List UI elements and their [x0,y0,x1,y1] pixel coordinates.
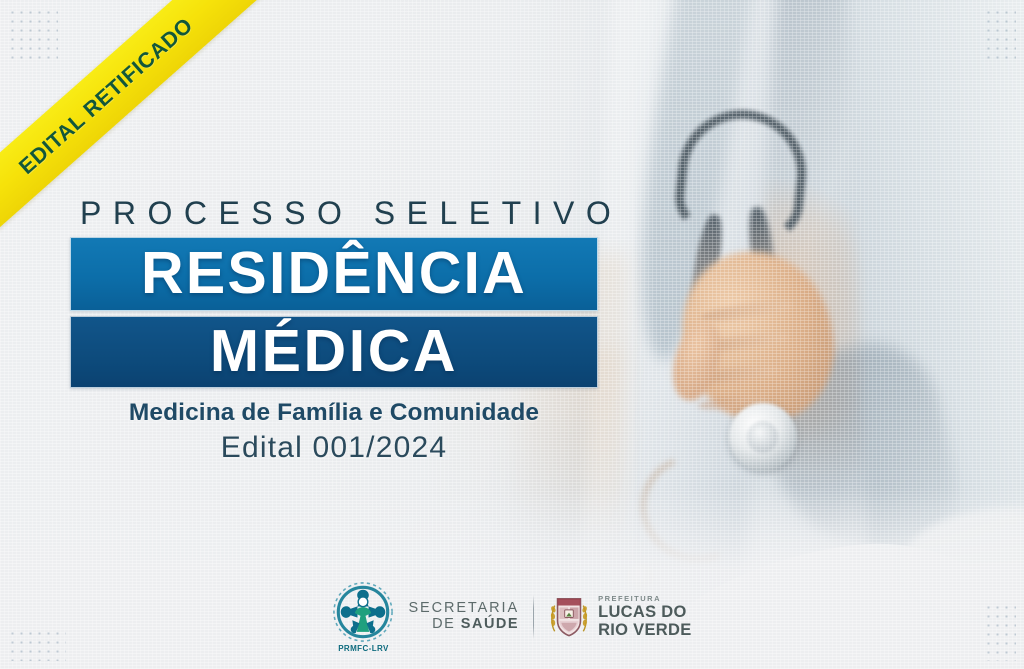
coat-of-arms-crest-icon [548,593,590,641]
secretaria-line-2: DE SAÚDE [432,616,519,632]
prmfc-caption: PRMFC-LRV [338,644,389,653]
secretaria-line-2-prefix: DE [432,616,461,632]
dot-grid-top-right [984,8,1016,60]
banner-root: EDITAL RETIFICADO PROCESSO SELETIVO RESI… [0,0,1024,669]
title-bar-medica: MÉDICA [70,316,598,388]
prefeitura-line-1: LUCAS DO [598,603,691,621]
prefeitura-text-block: PREFEITURA LUCAS DO RIO VERDE [598,595,691,640]
secretaria-line-1: SECRETARIA [408,600,519,616]
title-line-2: MÉDICA [210,322,458,381]
prmfc-emblem-icon [332,581,394,643]
subtitle-program: Medicina de Família e Comunidade [70,399,598,427]
logo-prefeitura: PREFEITURA LUCAS DO RIO VERDE [548,593,691,641]
prefeitura-eyebrow: PREFEITURA [598,595,691,603]
footer-logos: PRMFC-LRV SECRETARIA DE SAÚDE [0,581,1024,653]
footer-divider [533,595,534,639]
ribbon-label: EDITAL RETIFICADO [14,13,198,180]
logo-secretaria-de-saude: SECRETARIA DE SAÚDE [408,600,519,634]
prefeitura-line-2: RIO VERDE [598,621,691,639]
ribbon-band: EDITAL RETIFICADO [0,0,282,256]
corner-ribbon: EDITAL RETIFICADO [0,0,300,300]
subtitle-edital: Edital 001/2024 [70,431,598,465]
secretaria-line-2-bold: SAÚDE [461,616,519,632]
logo-prmfc: PRMFC-LRV [332,581,394,653]
